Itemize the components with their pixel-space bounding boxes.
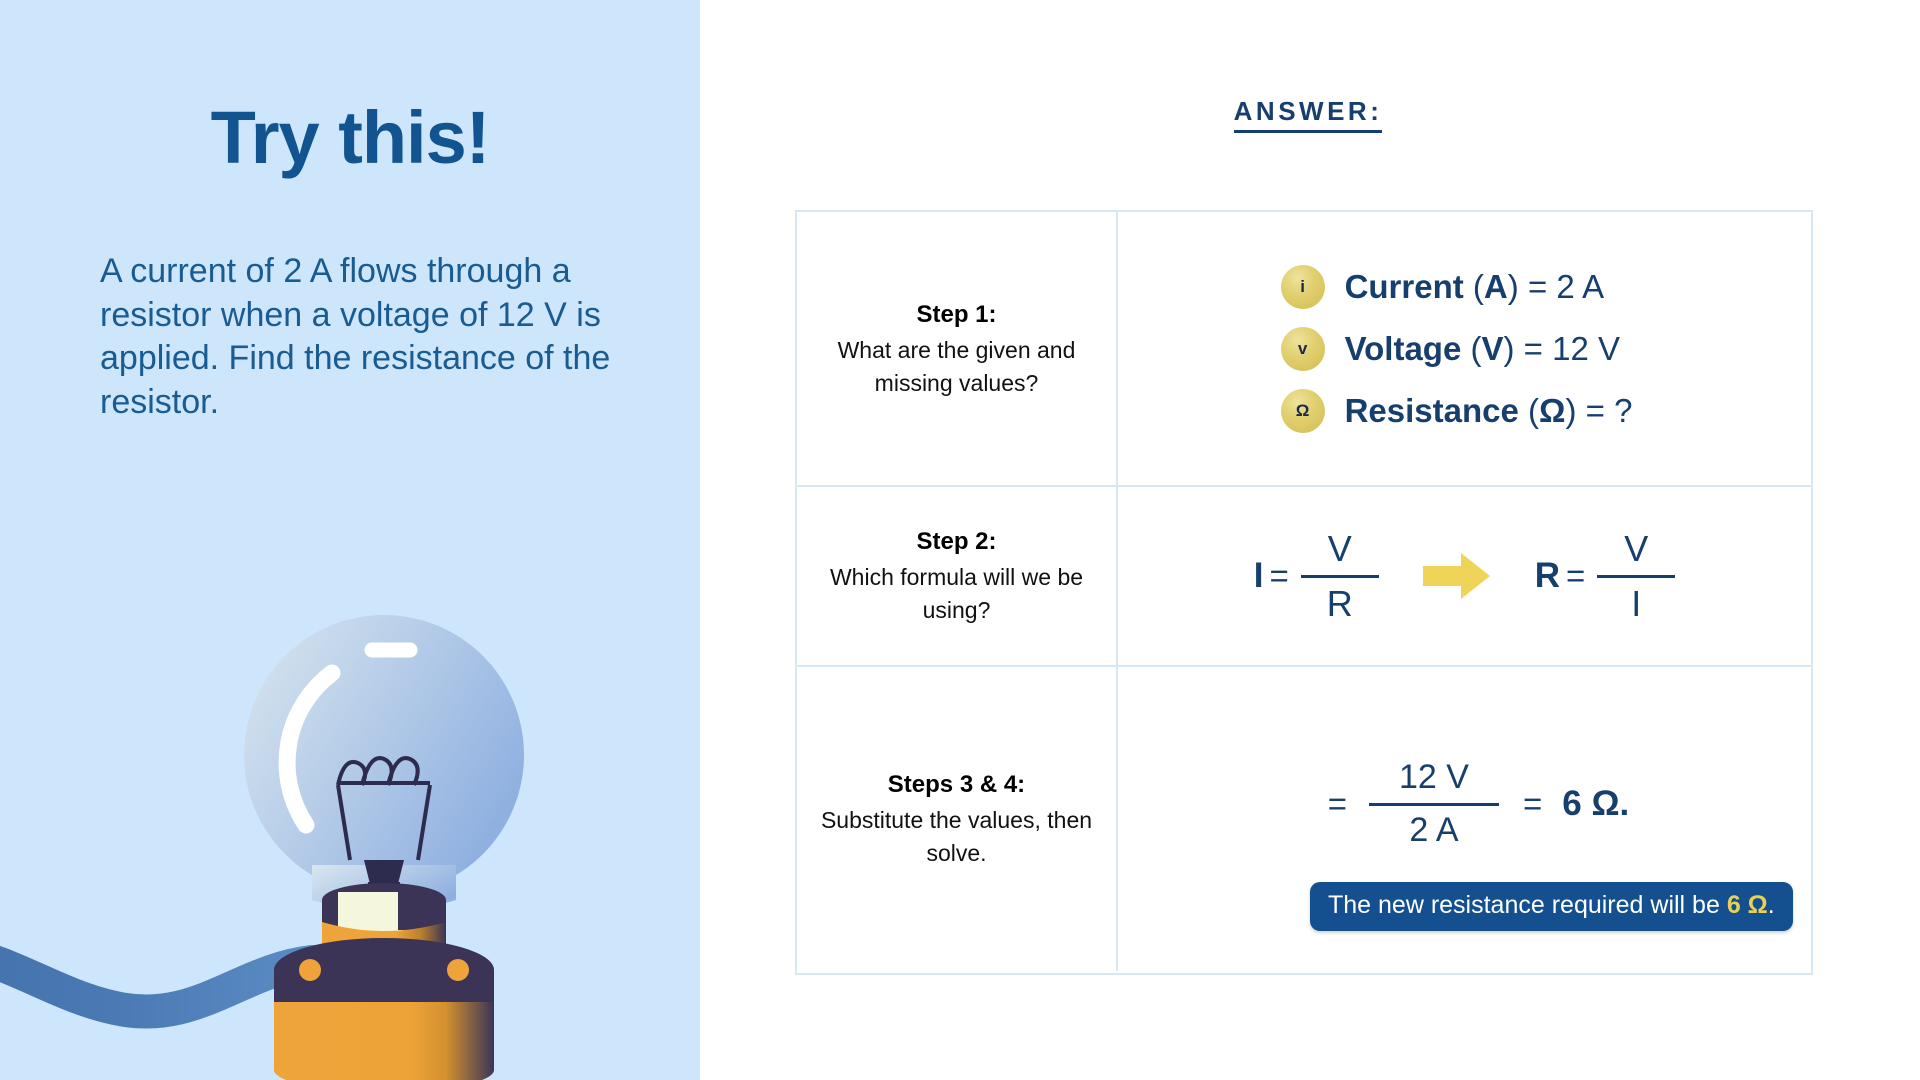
calculation-line: = 12 V 2 A = 6 Ω.: [1328, 758, 1630, 850]
screw-right-icon: [447, 959, 469, 981]
list-item: i Current (A) = 2 A: [1281, 265, 1633, 309]
table-row: Steps 3 & 4: Substitute the values, then…: [797, 665, 1811, 971]
fraction-bar: [1369, 803, 1499, 806]
formula-right-fraction: V I: [1597, 528, 1675, 625]
answer-table: Step 1: What are the given and missing v…: [795, 210, 1813, 975]
step-1-description: What are the given and missing values?: [811, 334, 1102, 399]
formula-right-denominator: I: [1623, 583, 1649, 625]
answer-header: ANSWER:: [1118, 96, 1498, 133]
step-1-cell: Step 1: What are the given and missing v…: [797, 212, 1118, 485]
formula-left-fraction: V R: [1301, 528, 1379, 625]
voltage-quantity-label: Voltage: [1345, 330, 1462, 367]
voltage-badge-icon: v: [1281, 327, 1325, 371]
formula-left-numerator: V: [1320, 528, 1360, 570]
known-values-list: i Current (A) = 2 A v Voltage (V) = 12 V…: [1281, 265, 1633, 433]
step-1-label: Step 1:: [916, 298, 996, 332]
screw-left-icon: [299, 959, 321, 981]
list-item: Ω Resistance (Ω) = ?: [1281, 389, 1633, 433]
calculation-equals-1: =: [1328, 785, 1347, 823]
left-panel: Try this! A current of 2 A flows through…: [0, 0, 700, 1080]
formula-transformation: I = V R R = V I: [1254, 528, 1676, 625]
formula-right-equals: =: [1566, 557, 1585, 595]
resistance-value-text: Resistance (Ω) = ?: [1345, 392, 1633, 430]
problem-statement: A current of 2 A flows through a resisto…: [100, 250, 620, 424]
calculation-equals-2: =: [1523, 785, 1542, 823]
voltage-value-text: Voltage (V) = 12 V: [1345, 330, 1620, 368]
calculation-result: 6 Ω.: [1562, 784, 1629, 824]
bulb-neck-front: [338, 892, 398, 932]
formula-right-numerator: V: [1616, 528, 1656, 570]
result-banner-text-before: The new resistance required will be: [1328, 891, 1727, 919]
resistance-equals: = ?: [1586, 392, 1633, 429]
cable-path: [0, 950, 312, 1012]
resistance-symbol: Ω: [1539, 392, 1565, 429]
answer-header-label: ANSWER:: [1234, 96, 1383, 133]
voltage-symbol: V: [1481, 330, 1503, 367]
result-banner: The new resistance required will be 6 Ω.: [1310, 882, 1793, 931]
table-row: Step 1: What are the given and missing v…: [797, 212, 1811, 485]
step-1-content: i Current (A) = 2 A v Voltage (V) = 12 V…: [1118, 212, 1811, 485]
step-34-label: Steps 3 & 4:: [888, 768, 1025, 802]
arrow-right-icon: [1423, 551, 1491, 601]
formula-left-variable: I: [1254, 556, 1264, 596]
formula-left-denominator: R: [1319, 583, 1361, 625]
fraction-bar: [1597, 575, 1675, 578]
current-value-text: Current (A) = 2 A: [1345, 268, 1605, 306]
step-34-cell: Steps 3 & 4: Substitute the values, then…: [797, 667, 1118, 971]
step-2-description: Which formula will we be using?: [811, 561, 1102, 626]
formula-right-variable: R: [1535, 556, 1560, 596]
current-equals: = 2 A: [1528, 268, 1604, 305]
current-quantity-label: Current: [1345, 268, 1464, 305]
formula-left-equals: =: [1269, 557, 1288, 595]
calculation-numerator: 12 V: [1385, 758, 1483, 798]
result-banner-text-after: .: [1768, 891, 1775, 919]
step-34-content: = 12 V 2 A = 6 Ω. The new resistance req…: [1118, 667, 1811, 971]
fraction-bar: [1301, 575, 1379, 578]
step-34-description: Substitute the values, then solve.: [811, 804, 1102, 869]
page-title: Try this!: [0, 95, 700, 180]
step-2-content: I = V R R = V I: [1118, 487, 1811, 665]
step-2-label: Step 2:: [916, 525, 996, 559]
voltage-equals: = 12 V: [1524, 330, 1620, 367]
result-banner-highlight: 6 Ω: [1727, 891, 1768, 919]
list-item: v Voltage (V) = 12 V: [1281, 327, 1633, 371]
resistance-quantity-label: Resistance: [1345, 392, 1519, 429]
calculation-fraction: 12 V 2 A: [1369, 758, 1499, 850]
calculation-denominator: 2 A: [1395, 811, 1472, 851]
resistance-badge-icon: Ω: [1281, 389, 1325, 433]
current-badge-icon: i: [1281, 265, 1325, 309]
current-symbol: A: [1484, 268, 1508, 305]
lightbulb-illustration: [0, 570, 700, 1080]
step-2-cell: Step 2: Which formula will we be using?: [797, 487, 1118, 665]
table-row: Step 2: Which formula will we be using? …: [797, 485, 1811, 665]
